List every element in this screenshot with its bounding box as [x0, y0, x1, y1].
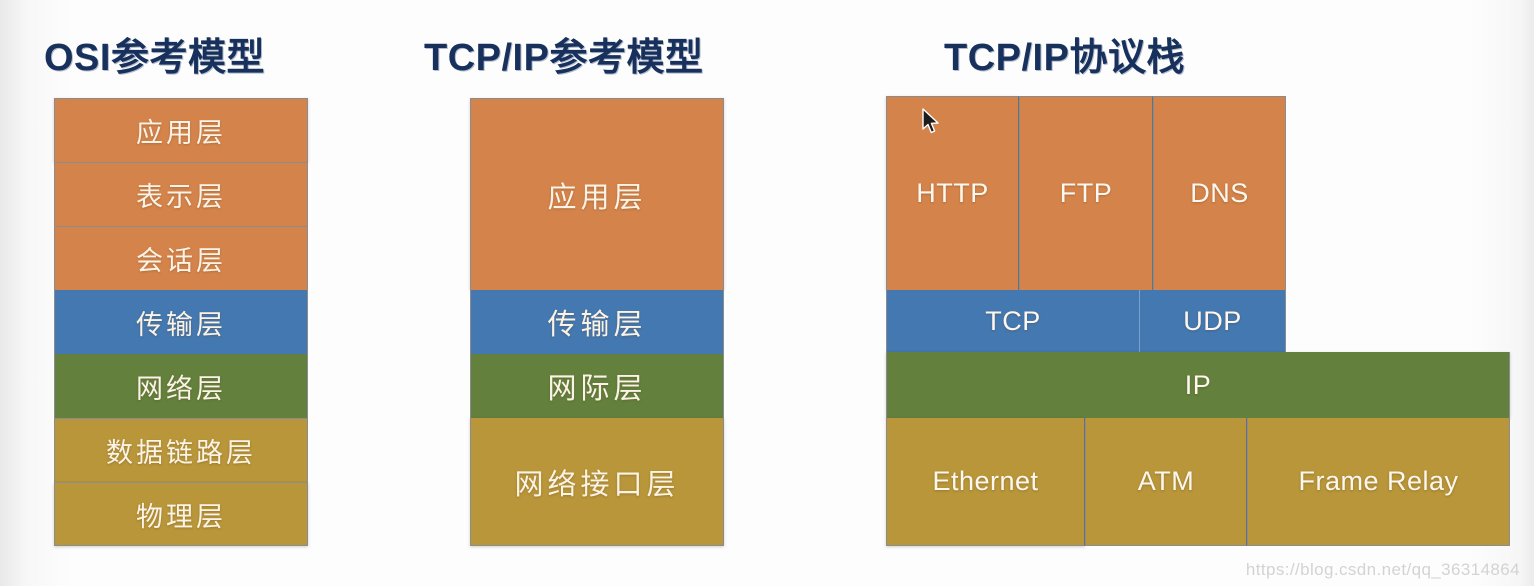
tcpip-stack-protocol-ip-label: IP — [1185, 370, 1212, 401]
tcpip-stack-protocol-ftp-label: FTP — [1060, 178, 1113, 209]
tcpip-stack-protocol-udp-label: UDP — [1183, 306, 1242, 337]
osi-layer-application-label: 应用层 — [136, 111, 226, 150]
tcpip-stack-protocol-dns-label: DNS — [1190, 178, 1249, 209]
osi-layer-presentation-label: 表示层 — [136, 175, 226, 214]
osi-layer-data-link: 数据链路层 — [54, 418, 308, 482]
tcpip-stack-protocol-atm: ATM — [1085, 418, 1247, 546]
diagram-canvas: OSI参考模型 应用层 表示层 会话层 传输层 网络层 数据链路层 物理层 TC… — [0, 0, 1534, 586]
tcpip-stack-protocol-tcp: TCP — [886, 290, 1140, 352]
tcpip-stack-protocol-atm-label: ATM — [1138, 466, 1195, 497]
osi-layer-session-label: 会话层 — [136, 239, 226, 278]
osi-layer-presentation: 表示层 — [54, 162, 308, 226]
tcpip-stack-protocol-frame-relay-label: Frame Relay — [1298, 466, 1458, 497]
tcpip-model-layer-transport-label: 传输层 — [547, 301, 646, 343]
osi-layer-physical-label: 物理层 — [136, 495, 226, 534]
osi-layer-transport-label: 传输层 — [136, 303, 226, 342]
tcpip-stack-protocol-tcp-label: TCP — [985, 306, 1041, 337]
osi-layer-session: 会话层 — [54, 226, 308, 290]
watermark-text: https://blog.csdn.net/qq_36314864 — [1246, 560, 1520, 580]
tcpip-model-column-title: TCP/IP参考模型 — [424, 26, 703, 81]
tcpip-model-layer-network-interface-label: 网络接口层 — [514, 461, 679, 503]
tcpip-stack-protocol-udp: UDP — [1140, 290, 1286, 352]
tcpip-stack-protocol-http: HTTP — [886, 96, 1019, 290]
tcpip-model-layer-application: 应用层 — [470, 98, 724, 290]
osi-layer-application: 应用层 — [54, 98, 308, 162]
tcpip-model-layer-network-interface: 网络接口层 — [470, 418, 724, 546]
tcpip-stack-protocol-frame-relay: Frame Relay — [1247, 418, 1510, 546]
tcpip-stack-protocol-ftp: FTP — [1019, 96, 1153, 290]
tcpip-model-layer-application-label: 应用层 — [547, 174, 646, 216]
osi-layer-data-link-label: 数据链路层 — [106, 431, 256, 470]
tcpip-stack-protocol-ip: IP — [886, 352, 1510, 418]
tcpip-stack-protocol-ethernet: Ethernet — [886, 418, 1085, 546]
osi-layer-network: 网络层 — [54, 354, 308, 418]
tcpip-model-layer-internet: 网际层 — [470, 354, 724, 418]
tcpip-stack-protocol-http-label: HTTP — [916, 178, 989, 209]
osi-layer-transport: 传输层 — [54, 290, 308, 354]
osi-layer-network-label: 网络层 — [136, 367, 226, 406]
tcpip-stack-protocol-dns: DNS — [1153, 96, 1286, 290]
osi-layer-physical: 物理层 — [54, 482, 308, 546]
tcpip-stack-protocol-ethernet-label: Ethernet — [932, 466, 1038, 497]
tcpip-stack-column-title: TCP/IP协议栈 — [944, 26, 1185, 81]
tcpip-model-layer-internet-label: 网际层 — [547, 365, 646, 407]
osi-column-title: OSI参考模型 — [44, 26, 265, 81]
tcpip-model-layer-transport: 传输层 — [470, 290, 724, 354]
